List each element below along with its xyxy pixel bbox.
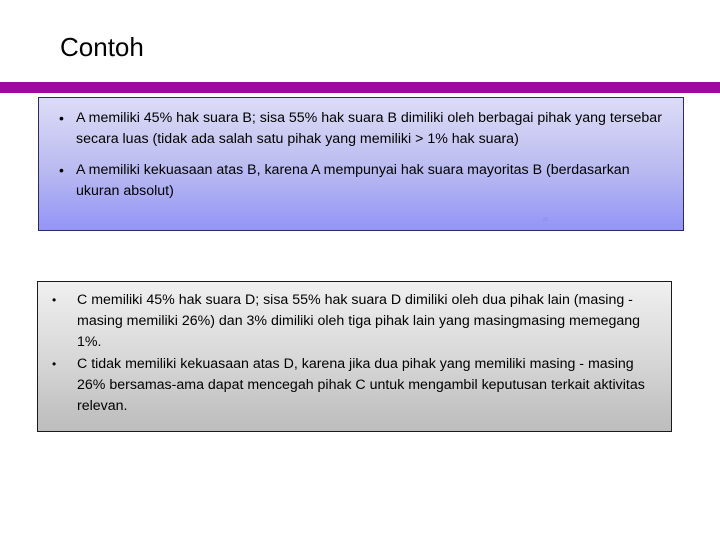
bullet-dot-icon: • <box>59 108 64 129</box>
list-item-text: C memiliki 45% hak suara D; sisa 55% hak… <box>77 290 664 353</box>
list-item-text: C tidak memiliki kekuasaan atas D, karen… <box>77 354 664 417</box>
bullet-dot-icon: • <box>52 290 56 311</box>
bullet-list-blue: • A memiliki 45% hak suara B; sisa 55% h… <box>51 108 673 202</box>
list-item: • C tidak memiliki kekuasaan atas D, kar… <box>46 354 664 417</box>
content-box-blue: • A memiliki 45% hak suara B; sisa 55% h… <box>38 97 684 231</box>
title-divider-bar <box>0 82 720 93</box>
bullet-dot-icon: • <box>52 354 56 375</box>
list-item-text: A memiliki 45% hak suara B; sisa 55% hak… <box>76 108 673 150</box>
page-title: Contoh <box>60 30 680 64</box>
list-item: • A memiliki 45% hak suara B; sisa 55% h… <box>51 108 673 150</box>
list-item-text: A memiliki kekuasaan atas B, karena A me… <box>76 160 673 202</box>
bullet-list-gray: • C memiliki 45% hak suara D; sisa 55% h… <box>46 290 664 418</box>
slide-canvas: Contoh • A memiliki 45% hak suara B; sis… <box>0 0 720 540</box>
artifact-speck <box>543 217 548 221</box>
list-item: • A memiliki kekuasaan atas B, karena A … <box>51 160 673 202</box>
list-item: • C memiliki 45% hak suara D; sisa 55% h… <box>46 290 664 353</box>
bullet-dot-icon: • <box>59 160 64 181</box>
content-box-gray: • C memiliki 45% hak suara D; sisa 55% h… <box>37 281 672 432</box>
